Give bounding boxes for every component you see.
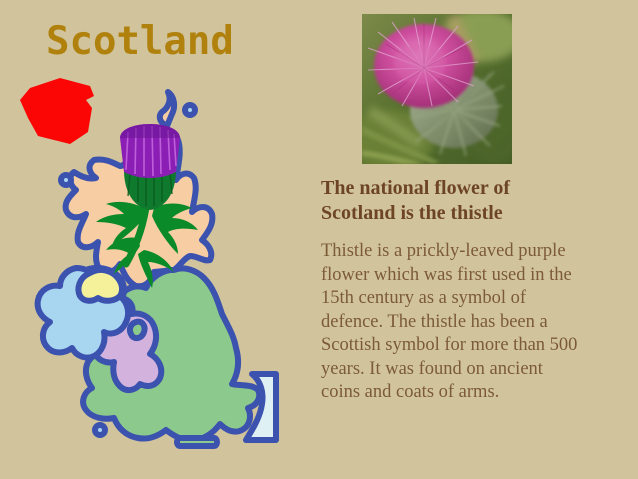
page-title: Scotland (46, 22, 234, 63)
map-island-dot-hebrides (61, 175, 71, 185)
thistle-head-highlight (120, 124, 180, 138)
red-highlight-shape (20, 78, 94, 144)
map-graphic (8, 74, 308, 474)
thistle-photo-graphic (362, 14, 512, 164)
flower-heading: The national flower of Scotland is the t… (321, 176, 571, 226)
map-island-dot-shetland (185, 105, 195, 115)
map-region-isle-of-man (130, 322, 145, 338)
flower-body-text: Thistle is a prickly-leaved purple flowe… (321, 240, 581, 405)
map-channel-islands (177, 438, 217, 446)
thistle-photograph (362, 14, 512, 164)
map-island-dot-scilly (95, 425, 105, 435)
map-region-northern-ireland (78, 270, 122, 301)
slide-canvas: Scotland (0, 0, 638, 479)
content-text-block: The national flower of Scotland is the t… (321, 176, 621, 405)
british-isles-map (8, 74, 308, 474)
